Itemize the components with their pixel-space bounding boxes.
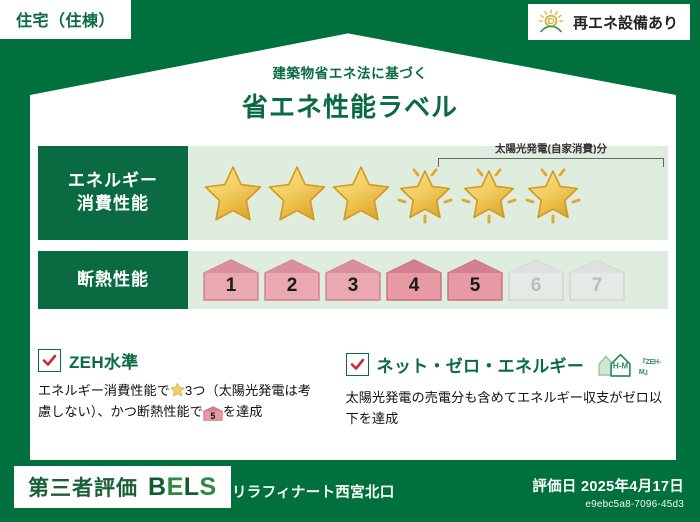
insulation-level-badge-inactive: 6 xyxy=(507,258,565,302)
star-filled xyxy=(266,162,328,224)
insulation-level-badge: 5 xyxy=(446,258,504,302)
bels-jp-label: 第三者評価 xyxy=(28,472,138,502)
renewable-badge-label: 再エネ設備あり xyxy=(573,12,678,33)
solar-annotation: 太陽光発電(自家消費)分 xyxy=(438,144,664,167)
energy-performance-row: エネルギー 消費性能 xyxy=(38,146,668,240)
info-columns: ZEH水準 エネルギー消費性能で3つ（太陽光発電は考慮しない）、かつ断熱性能で5… xyxy=(38,348,668,430)
evaluation-date: 評価日 2025年4月17日 xyxy=(532,475,684,496)
netzero-title: ネット・ゼロ・エネルギー xyxy=(377,352,585,377)
category-badge: 住宅（住棟） xyxy=(0,0,131,39)
netzero-description: 太陽光発電の売電分も含めてエネルギー収支がゼロ以下を達成 xyxy=(346,387,668,430)
sun-icon xyxy=(536,9,566,35)
star-inline-icon xyxy=(170,382,185,397)
insulation-level-badge: 2 xyxy=(263,258,321,302)
building-name: リラフィナート西宮北口 xyxy=(232,481,395,502)
performance-rows: エネルギー 消費性能 xyxy=(38,146,668,320)
evaluation-meta: 評価日 2025年4月17日 e9ebc5a8-7096-45d3 xyxy=(532,475,684,510)
renewable-equipment-badge: 再エネ設備あり xyxy=(528,4,690,40)
zeh-text-after: を達成 xyxy=(223,404,263,419)
zeh-text-before: エネルギー消費性能で xyxy=(38,383,170,398)
insulation-level-value: 4 xyxy=(409,275,420,302)
solar-annotation-bracket xyxy=(438,158,664,167)
insulation-level-value: 3 xyxy=(348,275,359,302)
bels-logo-box: 第三者評価 BELS xyxy=(14,466,231,508)
zeh-m-logo: H-M 『ZEH-M』 xyxy=(594,348,668,380)
star-filled-solar xyxy=(458,162,520,224)
zeh-description: エネルギー消費性能で3つ（太陽光発電は考慮しない）、かつ断熱性能で5を達成 xyxy=(38,380,322,423)
evaluation-id: e9ebc5a8-7096-45d3 xyxy=(532,499,684,510)
insulation-level-value: 2 xyxy=(287,275,298,302)
star-filled xyxy=(330,162,392,224)
checkbox-checked-icon xyxy=(38,349,61,372)
star-filled-solar xyxy=(522,162,584,224)
insulation-level-badge: 4 xyxy=(385,258,443,302)
insulation-level-value: 7 xyxy=(592,275,603,302)
insulation-levels-panel: 1 2 3 4 5 xyxy=(188,251,668,309)
energy-label-line2: 消費性能 xyxy=(77,194,149,213)
zeh-m-logo-text: H-M xyxy=(613,361,629,370)
insulation-level-badge: 3 xyxy=(324,258,382,302)
zeh-title: ZEH水準 xyxy=(69,348,139,373)
bels-en-label: BELS xyxy=(148,473,217,502)
star-filled xyxy=(202,162,264,224)
title-subtitle: 建築物省エネ法に基づく xyxy=(0,62,700,82)
insulation-level-value: 1 xyxy=(226,275,237,302)
title-block: 建築物省エネ法に基づく 省エネ性能ラベル xyxy=(0,62,700,124)
energy-label-card: 住宅（住棟） 再エネ設備あり 建築物省エネ法に基づく xyxy=(0,0,700,522)
energy-label-line1: エネルギー xyxy=(68,171,158,190)
insulation-level-value: 5 xyxy=(470,275,481,302)
star-filled-solar xyxy=(394,162,456,224)
energy-stars-panel: 太陽光発電(自家消費)分 xyxy=(188,146,668,240)
energy-performance-label: エネルギー 消費性能 xyxy=(38,146,188,240)
footer-bar: 第三者評価 BELS リラフィナート西宮北口 評価日 2025年4月17日 e9… xyxy=(0,460,700,522)
insulation-performance-label: 断熱性能 xyxy=(38,251,188,309)
insulation-level-value: 6 xyxy=(531,275,542,302)
solar-annotation-label: 太陽光発電(自家消費)分 xyxy=(438,144,664,155)
insulation-performance-row: 断熱性能 1 2 3 4 xyxy=(38,251,668,309)
zeh-m-logo-caption: 『ZEH-M』 xyxy=(639,357,668,380)
insulation-level-badge: 1 xyxy=(202,258,260,302)
insulation-level-badge-inactive: 7 xyxy=(568,258,626,302)
category-badge-label: 住宅（住棟） xyxy=(16,13,115,30)
title-main: 省エネ性能ラベル xyxy=(0,87,700,124)
netzero-column: ネット・ゼロ・エネルギー H-M 『ZEH-M』 太陽光発電の売電分も含めてエネ… xyxy=(346,348,668,430)
zeh-heading: ZEH水準 xyxy=(38,348,322,373)
checkbox-checked-icon xyxy=(346,353,369,376)
netzero-heading: ネット・ゼロ・エネルギー H-M 『ZEH-M』 xyxy=(346,348,668,380)
insulation-inline-badge-icon: 5 xyxy=(203,406,223,421)
zeh-column: ZEH水準 エネルギー消費性能で3つ（太陽光発電は考慮しない）、かつ断熱性能で5… xyxy=(38,348,322,430)
insulation-inline-badge-value: 5 xyxy=(203,406,223,426)
